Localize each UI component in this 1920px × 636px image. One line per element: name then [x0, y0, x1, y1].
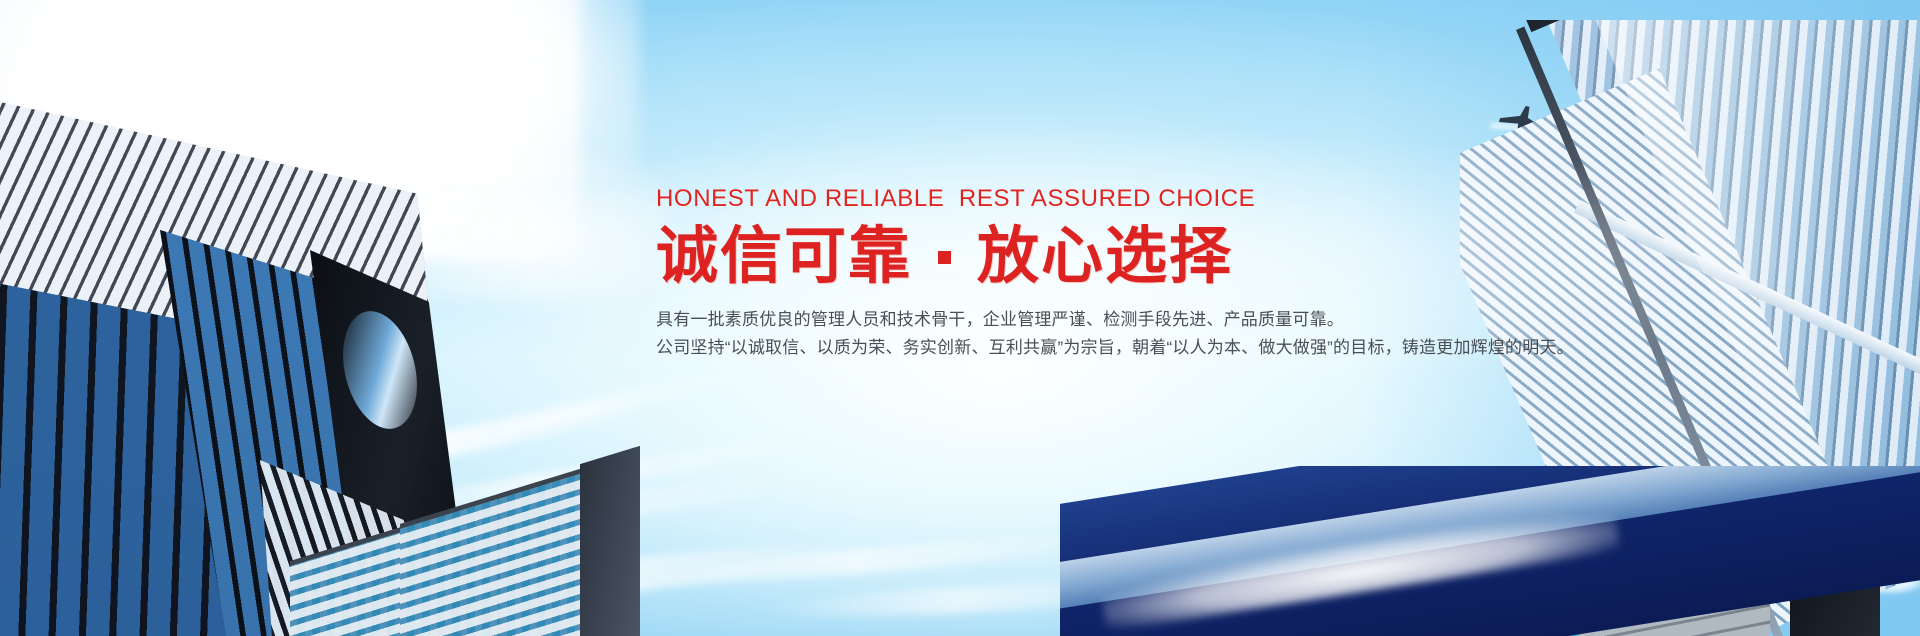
headline-left-text: 诚信可靠 [656, 222, 912, 291]
headline: 诚信可靠 放心选择 [656, 222, 1686, 291]
headline-separator-dot [938, 251, 951, 264]
description-line-2: 公司坚持“以诚取信、以质为荣、务实创新、互利共赢”为宗旨，朝着“以人为本、做大做… [656, 334, 1686, 362]
left-building-secondary [250, 415, 670, 636]
foreground-navy-band [1060, 466, 1920, 636]
description-line-1: 具有一批素质优良的管理人员和技术骨干，企业管理严谨、检测手段先进、产品质量可靠。 [656, 306, 1686, 334]
description: 具有一批素质优良的管理人员和技术骨干，企业管理严谨、检测手段先进、产品质量可靠。… [656, 306, 1686, 362]
english-tagline: HONEST AND RELIABLE REST ASSURED CHOICE [656, 186, 1686, 212]
headline-right-text: 放心选择 [977, 222, 1233, 291]
hero-banner: HONEST AND RELIABLE REST ASSURED CHOICE … [0, 0, 1920, 636]
tower-shadow-wall [580, 446, 640, 636]
banner-copy: HONEST AND RELIABLE REST ASSURED CHOICE … [656, 186, 1686, 362]
